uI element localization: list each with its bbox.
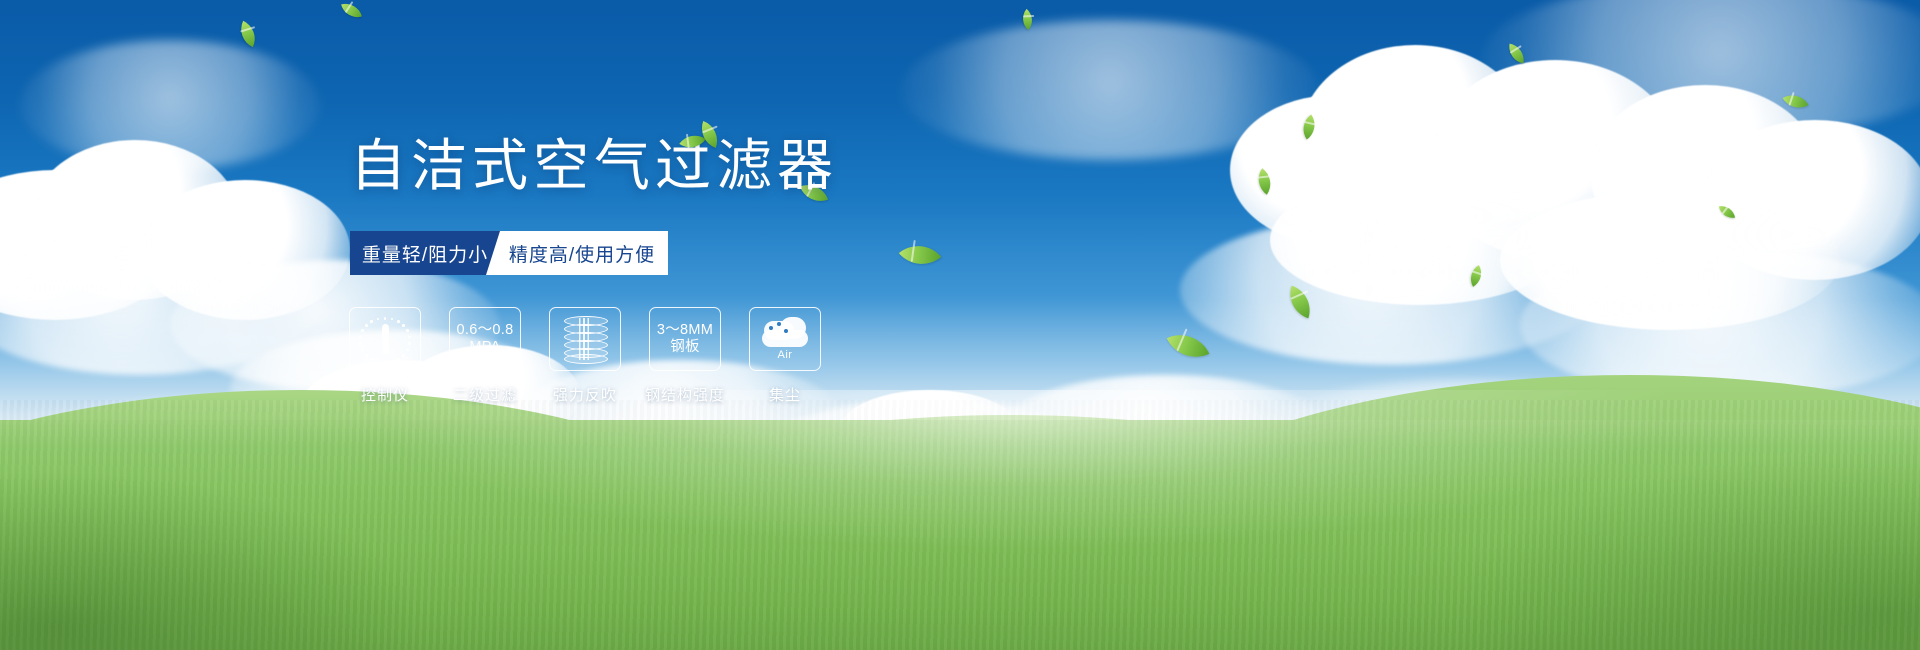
- coil-spring-icon: [564, 316, 606, 362]
- feature-box-filter-line2: MPA: [457, 339, 514, 356]
- feature-box-blowback: [549, 307, 621, 371]
- air-cloud-icon: Air: [760, 317, 810, 361]
- feature-box-steel: 3～8MM 钢板: [649, 307, 721, 371]
- feature-box-dust: Air: [749, 307, 821, 371]
- dial-on-label: NO: [358, 344, 365, 349]
- leaf-decoration: [235, 21, 262, 48]
- feature-caption-dust: 集尘: [769, 384, 801, 405]
- feature-box-filter: 0.6～0.8 MPA: [449, 307, 521, 371]
- feature-item-dust[interactable]: Air 集尘: [750, 307, 820, 405]
- feature-box-steel-line1: 3～8MM: [657, 322, 713, 339]
- feature-caption-filter: 二级过滤: [453, 384, 517, 405]
- grass-shadow-right: [1220, 400, 1920, 650]
- banner-content: 自洁式空气过滤器 重量轻/阻力小 精度高/使用方便: [350, 100, 1070, 405]
- product-hero-banner: 自洁式空气过滤器 重量轻/阻力小 精度高/使用方便: [0, 0, 1920, 650]
- grass-shadow-left: [0, 410, 560, 650]
- feature-caption-blowback: 强力反吹: [553, 384, 617, 405]
- dial-off-label: OFF: [402, 356, 412, 361]
- tagline-tab-1[interactable]: 重量轻/阻力小: [350, 231, 500, 275]
- tagline-tabs: 重量轻/阻力小 精度高/使用方便: [350, 231, 672, 275]
- feature-box-control: NO OFF: [349, 307, 421, 371]
- leaf-decoration: [341, 0, 362, 21]
- control-dial-icon: NO OFF: [359, 316, 411, 362]
- feature-item-steel[interactable]: 3～8MM 钢板 钢结构强度: [650, 307, 720, 405]
- feature-box-filter-line1: 0.6～0.8: [457, 322, 514, 339]
- tagline-tab-2[interactable]: 精度高/使用方便: [486, 231, 668, 275]
- title-leaf-icon: [683, 124, 723, 152]
- air-label: Air: [760, 349, 810, 362]
- feature-caption-steel: 钢结构强度: [645, 384, 725, 405]
- feature-list: NO OFF 控制仪 0.6～0.8 MPA 二级过滤: [350, 307, 1070, 405]
- feature-item-filter[interactable]: 0.6～0.8 MPA 二级过滤: [450, 307, 520, 405]
- feature-item-blowback[interactable]: 强力反吹: [550, 307, 620, 405]
- feature-item-control[interactable]: NO OFF 控制仪: [350, 307, 420, 405]
- feature-caption-control: 控制仪: [361, 384, 409, 405]
- feature-box-steel-line2: 钢板: [657, 339, 713, 356]
